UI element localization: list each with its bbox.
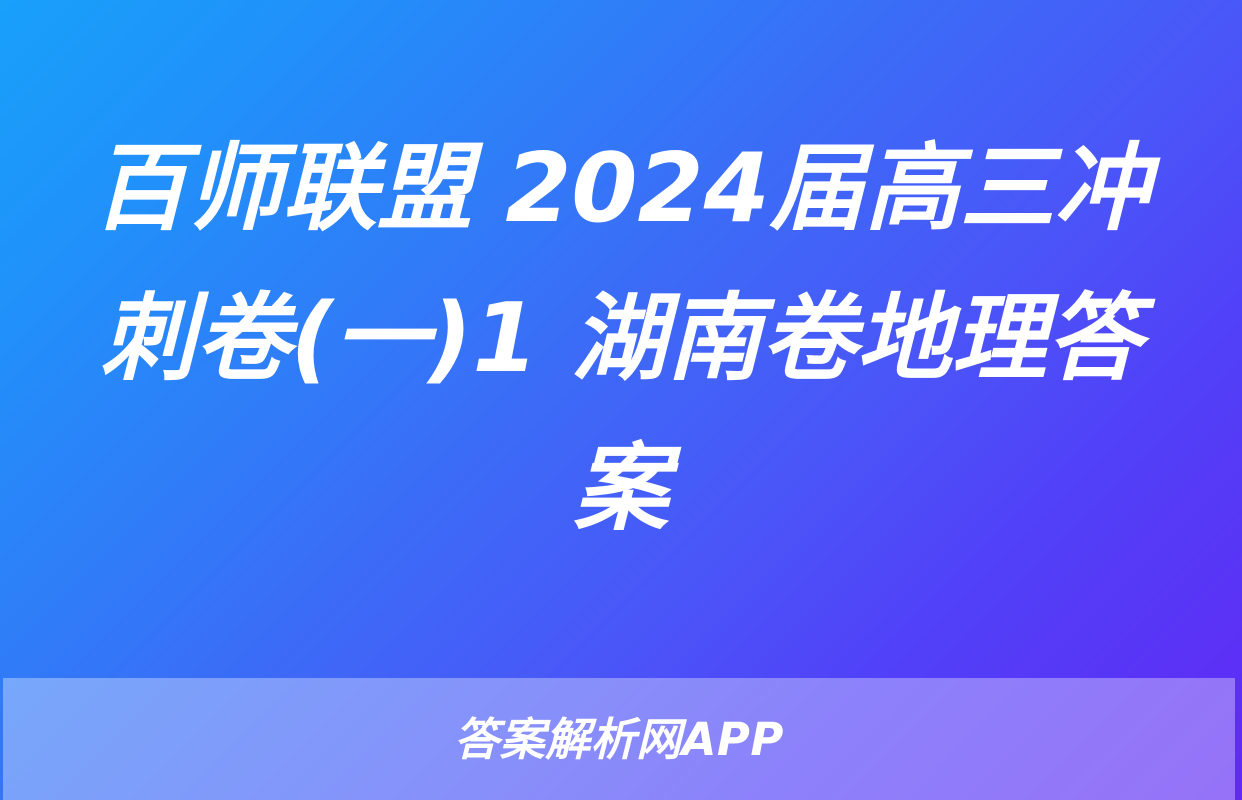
watermark-text: 答案解析网APP bbox=[454, 717, 784, 762]
page-title: 百师联盟 2024届高三冲刺卷(一)1 湖南卷地理答案 bbox=[72, 114, 1170, 564]
watermark: 答案解析网APP bbox=[3, 678, 1235, 800]
poster-card: 百师联盟 2024届高三冲刺卷(一)1 湖南卷地理答案 答案解析网APP bbox=[0, 0, 1242, 800]
footer-band: 答案解析网APP bbox=[3, 678, 1235, 800]
title-area: 百师联盟 2024届高三冲刺卷(一)1 湖南卷地理答案 bbox=[0, 0, 1242, 678]
